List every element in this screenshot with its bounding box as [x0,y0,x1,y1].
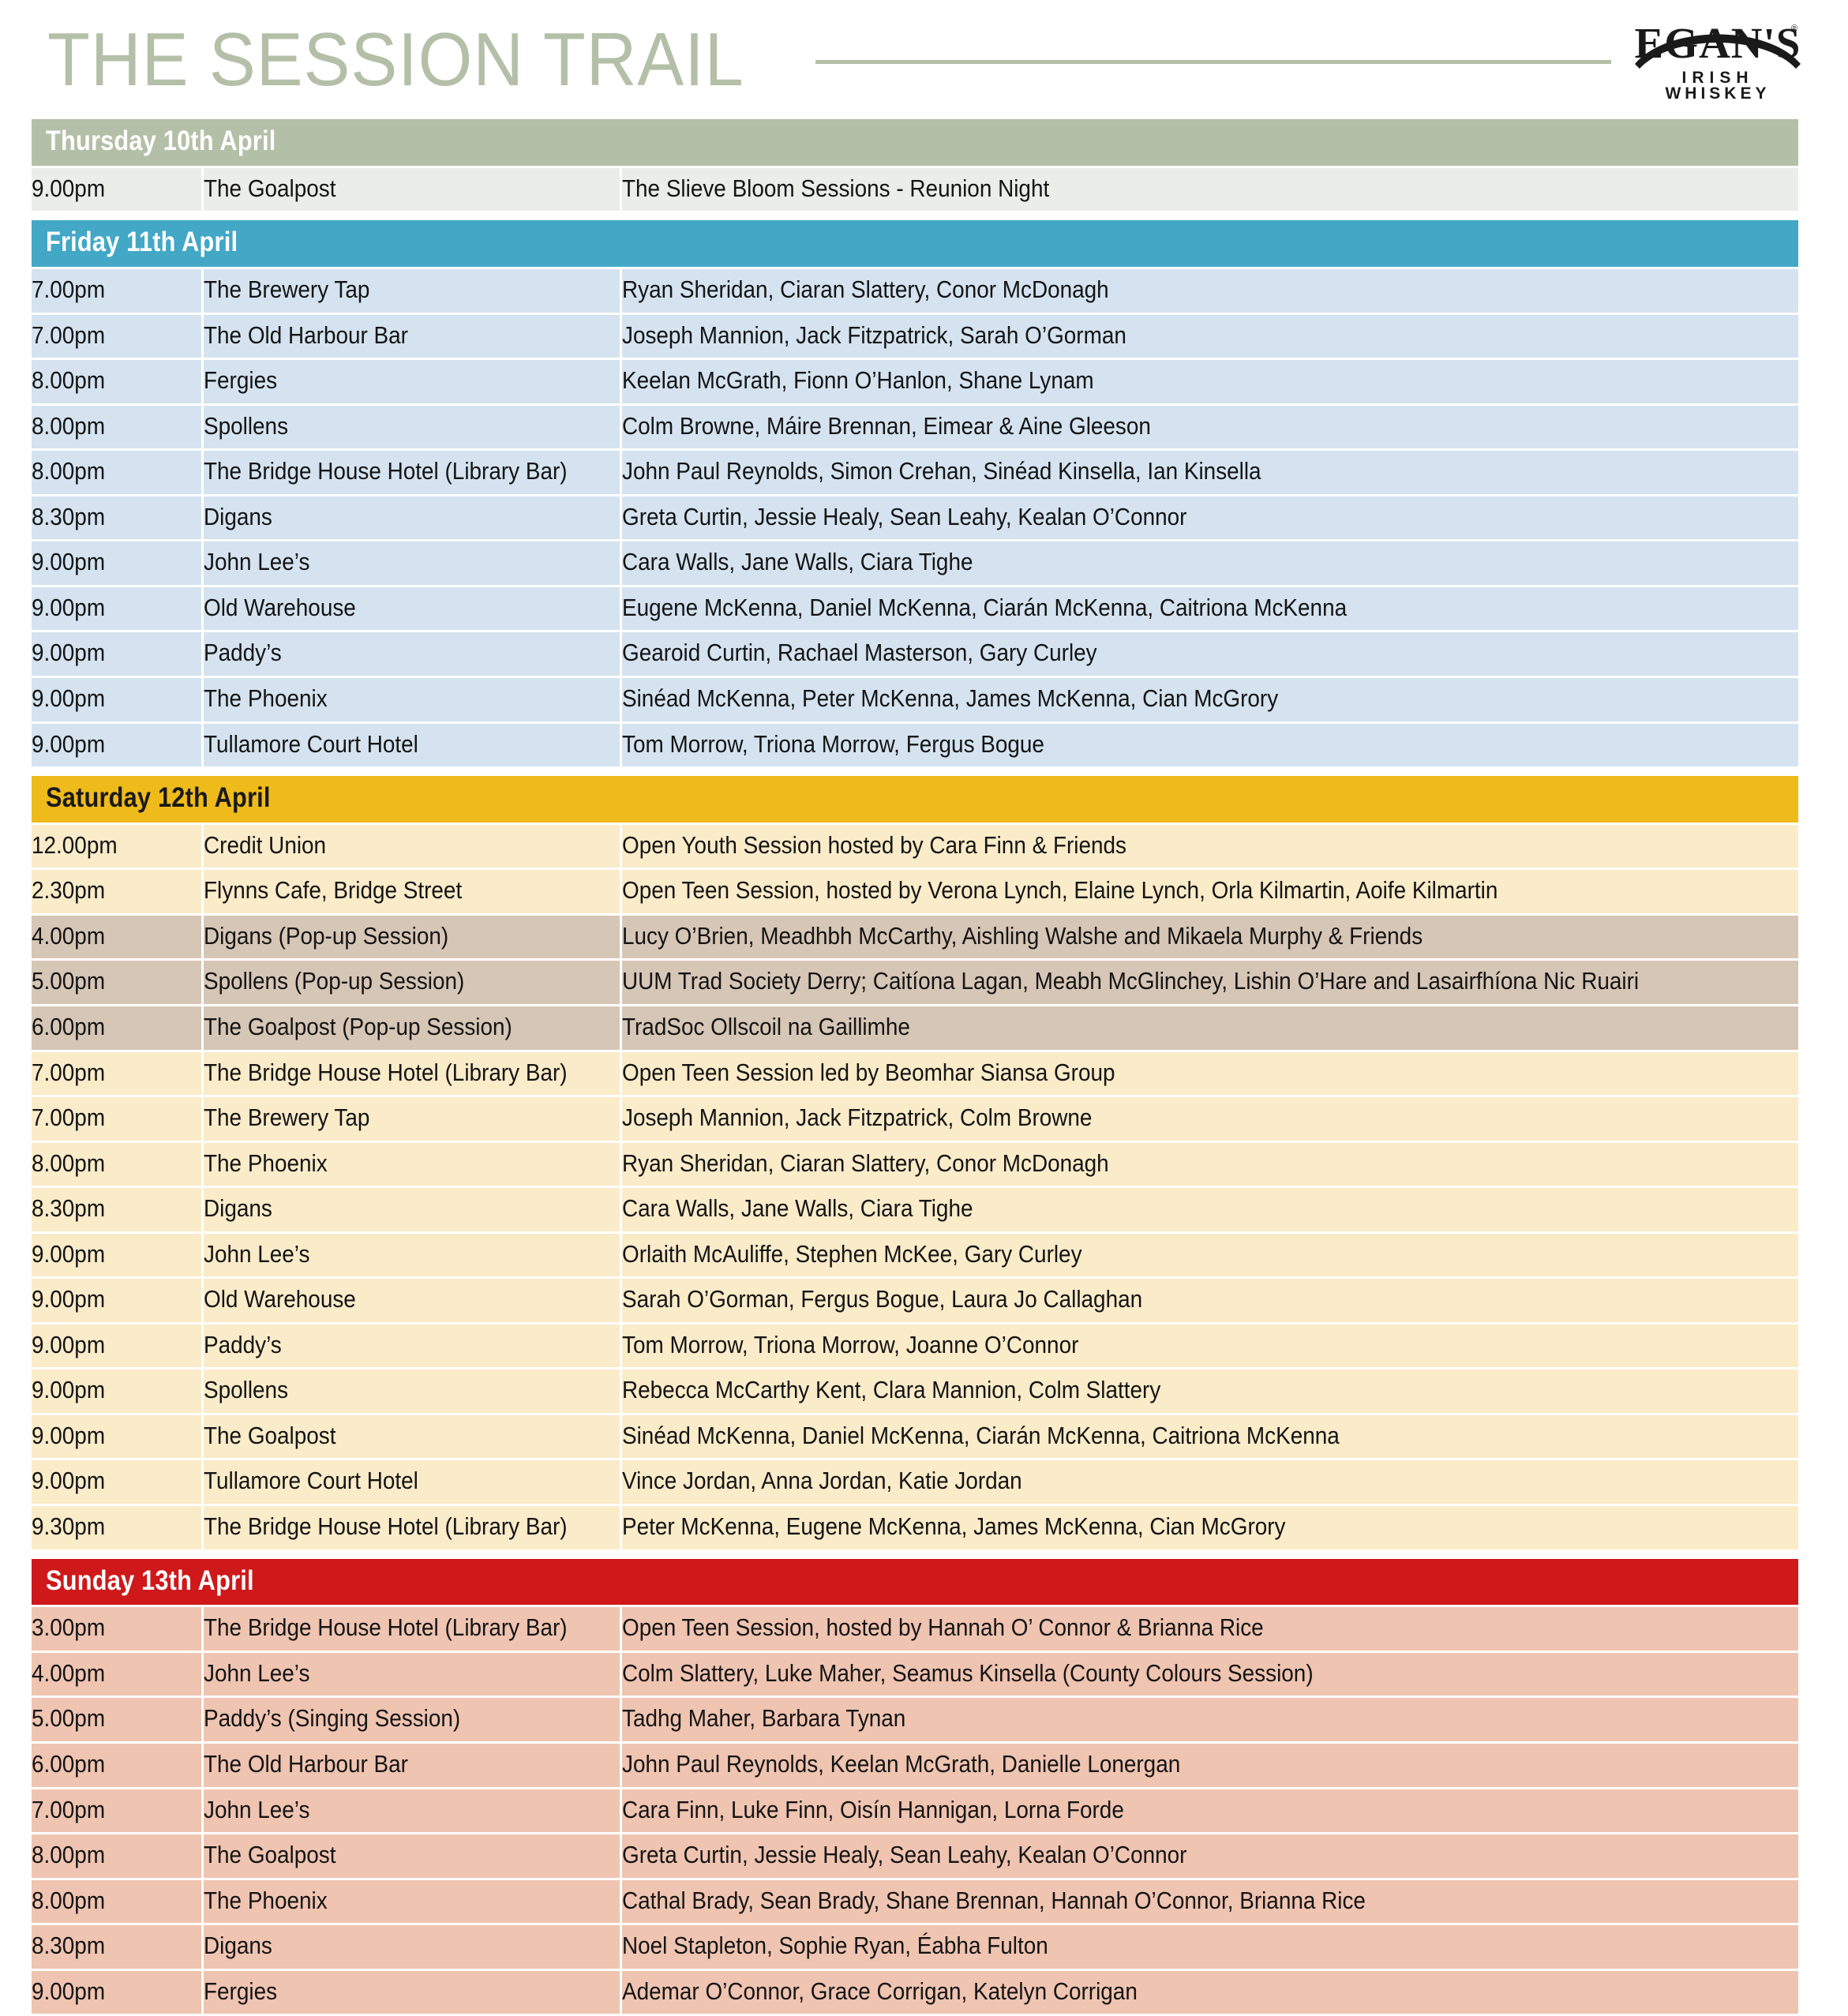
masthead: THE SESSION TRAIL EGAN'S ® IRISH WHISKEY [0,0,1848,117]
session-acts: Gearoid Curtin, Rachael Masterson, Gary … [622,640,1097,666]
session-time: 8.00pm [32,1888,105,1914]
session-time-cell: 9.00pm [32,1415,201,1459]
session-row[interactable]: 9.00pmPaddy’sTom Morrow, Triona Morrow, … [32,1325,1798,1368]
session-venue: The Phoenix [204,1151,328,1177]
session-time-cell: 9.30pm [32,1506,201,1549]
session-row[interactable]: 9.00pmOld WarehouseEugene McKenna, Danie… [32,587,1798,631]
session-time-cell: 4.00pm [32,916,201,959]
session-venue: The Phoenix [204,1888,328,1914]
session-acts: Joseph Mannion, Jack Fitzpatrick, Colm B… [622,1105,1092,1131]
session-time-cell: 7.00pm [32,1052,201,1096]
session-time-cell: 3.00pm [32,1607,201,1651]
session-venue-cell: John Lee’s [201,1653,620,1696]
session-venue: The Bridge House Hotel (Library Bar) [204,459,568,485]
session-venue: The Goalpost [204,1842,335,1868]
session-acts: Open Teen Session, hosted by Verona Lync… [622,878,1498,904]
session-venue-cell: The Bridge House Hotel (Library Bar) [201,1052,620,1096]
session-time: 8.00pm [32,368,105,394]
session-venue: Credit Union [204,833,326,859]
session-acts: Greta Curtin, Jessie Healy, Sean Leahy, … [622,1842,1186,1868]
session-venue: John Lee’s [204,1661,309,1687]
session-acts-cell: Greta Curtin, Jessie Healy, Sean Leahy, … [620,497,1798,540]
session-time-cell: 9.00pm [32,1234,201,1277]
session-venue: The Brewery Tap [204,1105,369,1131]
session-acts: Sarah O’Gorman, Fergus Bogue, Laura Jo C… [622,1287,1142,1313]
session-row[interactable]: 6.00pmThe Goalpost (Pop-up Session)TradS… [32,1006,1798,1050]
session-venue-cell: Fergies [201,1971,620,2014]
session-row[interactable]: 9.00pmOld WarehouseSarah O’Gorman, Fergu… [32,1279,1798,1322]
session-venue: Spollens (Pop-up Session) [204,969,464,995]
session-venue: Old Warehouse [204,595,356,621]
session-time: 12.00pm [32,833,118,859]
session-venue: Spollens [204,414,288,440]
session-acts-cell: John Paul Reynolds, Keelan McGrath, Dani… [620,1744,1798,1787]
session-row[interactable]: 8.30pmDigansNoel Stapleton, Sophie Ryan,… [32,1925,1798,1969]
session-venue-cell: The Bridge House Hotel (Library Bar) [201,1506,620,1549]
session-acts-cell: Noel Stapleton, Sophie Ryan, Éabha Fulto… [620,1925,1798,1969]
session-row[interactable]: 7.00pmJohn Lee’sCara Finn, Luke Finn, Oi… [32,1789,1798,1833]
session-time: 7.00pm [32,1105,105,1131]
session-time: 8.00pm [32,459,105,485]
session-acts: Cara Walls, Jane Walls, Ciara Tighe [622,549,973,575]
session-time: 8.30pm [32,1196,105,1222]
session-acts-cell: Rebecca McCarthy Kent, Clara Mannion, Co… [620,1370,1798,1413]
session-acts: Keelan McGrath, Fionn O’Hanlon, Shane Ly… [622,368,1094,394]
session-venue: Old Warehouse [204,1287,356,1313]
table-spacer [32,213,1798,218]
day-label: Saturday 12th April [46,784,271,813]
session-acts-cell: Keelan McGrath, Fionn O’Hanlon, Shane Ly… [620,360,1798,403]
session-venue: John Lee’s [204,1242,309,1268]
session-time-cell: 5.00pm [32,1698,201,1741]
session-venue-cell: Digans [201,497,620,540]
day-label: Thursday 10th April [46,127,276,156]
svg-text:®: ® [1791,24,1797,33]
session-time: 9.00pm [32,176,105,202]
session-acts-cell: Colm Browne, Máire Brennan, Eimear & Ain… [620,406,1798,449]
session-time: 9.00pm [32,1242,105,1268]
session-time: 5.00pm [32,1706,105,1732]
session-time: 9.30pm [32,1514,105,1540]
session-acts-cell: Vince Jordan, Anna Jordan, Katie Jordan [620,1460,1798,1504]
session-time: 9.00pm [32,1423,105,1449]
session-row[interactable]: 2.30pmFlynns Cafe, Bridge StreetOpen Tee… [32,870,1798,913]
session-venue-cell: The Bridge House Hotel (Library Bar) [201,1607,620,1651]
session-acts: Vince Jordan, Anna Jordan, Katie Jordan [622,1468,1022,1494]
session-row[interactable]: 4.00pmJohn Lee’sColm Slattery, Luke Mahe… [32,1653,1798,1696]
session-venue-cell: Paddy’s [201,632,620,676]
day-header-sunday: Sunday 13th April [32,1559,1798,1606]
session-acts-cell: Ryan Sheridan, Ciaran Slattery, Conor Mc… [620,269,1798,313]
session-venue-cell: Digans [201,1925,620,1969]
session-venue: Tullamore Court Hotel [204,1468,418,1494]
session-row[interactable]: 8.00pmSpollensColm Browne, Máire Brennan… [32,406,1798,449]
session-venue: The Goalpost [204,176,335,202]
session-venue: Flynns Cafe, Bridge Street [204,878,462,904]
session-venue: The Goalpost (Pop-up Session) [204,1014,512,1040]
session-venue-cell: Paddy’s [201,1325,620,1368]
session-acts: Open Teen Session led by Beomhar Siansa … [622,1060,1115,1086]
day-header-cell: Sunday 13th April [32,1559,1798,1606]
session-venue-cell: The Old Harbour Bar [201,1744,620,1787]
session-row[interactable]: 9.00pmJohn Lee’sCara Walls, Jane Walls, … [32,541,1798,585]
session-venue-cell: Credit Union [201,825,620,868]
session-row[interactable]: 9.30pmThe Bridge House Hotel (Library Ba… [32,1506,1798,1549]
session-venue-cell: John Lee’s [201,1789,620,1833]
day-header-thursday: Thursday 10th April [32,119,1798,166]
session-venue-cell: Flynns Cafe, Bridge Street [201,870,620,913]
egans-logo-icon: EGAN'S ® IRISH WHISKEY [1627,12,1809,100]
session-acts: Orlaith McAuliffe, Stephen McKee, Gary C… [622,1242,1082,1268]
session-acts-cell: Sinéad McKenna, Peter McKenna, James McK… [620,678,1798,721]
session-acts-cell: Cara Finn, Luke Finn, Oisín Hannigan, Lo… [620,1789,1798,1833]
session-row[interactable]: 9.00pmThe GoalpostThe Slieve Bloom Sessi… [32,168,1798,212]
svg-text:EGAN'S: EGAN'S [1635,19,1801,67]
session-time: 4.00pm [32,924,105,950]
svg-text:WHISKEY: WHISKEY [1665,84,1770,100]
session-time-cell: 9.00pm [32,541,201,585]
session-acts: Cathal Brady, Sean Brady, Shane Brennan,… [622,1888,1366,1914]
session-time: 7.00pm [32,1060,105,1086]
session-time-cell: 8.00pm [32,406,201,449]
session-time: 8.30pm [32,1933,105,1959]
session-venue-cell: The Old Harbour Bar [201,315,620,358]
session-row[interactable]: 8.00pmThe PhoenixRyan Sheridan, Ciaran S… [32,1143,1798,1186]
session-row[interactable]: 9.00pmThe GoalpostSinéad McKenna, Daniel… [32,1415,1798,1459]
session-row[interactable]: 9.00pmJohn Lee’sOrlaith McAuliffe, Steph… [32,1234,1798,1277]
session-acts: Colm Slattery, Luke Maher, Seamus Kinsel… [622,1661,1314,1687]
session-time-cell: 9.00pm [32,678,201,721]
session-time: 8.00pm [32,1842,105,1868]
session-row[interactable]: 4.00pmDigans (Pop-up Session)Lucy O’Brie… [32,916,1798,959]
session-time-cell: 9.00pm [32,168,201,212]
session-acts: UUM Trad Society Derry; Caitíona Lagan, … [622,969,1639,995]
session-row[interactable]: 7.00pmThe Brewery TapRyan Sheridan, Ciar… [32,269,1798,313]
session-row[interactable]: 9.00pmTullamore Court HotelTom Morrow, T… [32,724,1798,767]
session-acts-cell: Open Teen Session, hosted by Hannah O’ C… [620,1607,1798,1651]
session-acts: Tom Morrow, Triona Morrow, Fergus Bogue [622,732,1044,758]
session-time: 2.30pm [32,878,105,904]
session-time: 9.00pm [32,1332,105,1358]
day-label: Friday 11th April [46,228,238,257]
session-time-cell: 8.00pm [32,1143,201,1186]
session-acts: Rebecca McCarthy Kent, Clara Mannion, Co… [622,1377,1160,1403]
session-row[interactable]: 8.00pmThe GoalpostGreta Curtin, Jessie H… [32,1834,1798,1878]
session-time: 4.00pm [32,1661,105,1687]
session-row[interactable]: 7.00pmThe Bridge House Hotel (Library Ba… [32,1052,1798,1096]
session-time-cell: 12.00pm [32,825,201,868]
session-venue: Paddy’s (Singing Session) [204,1706,460,1732]
session-time: 8.30pm [32,504,105,530]
session-schedule-table: Thursday 10th April9.00pmThe GoalpostThe… [32,117,1798,2016]
session-venue-cell: Tullamore Court Hotel [201,1460,620,1504]
session-time-cell: 8.00pm [32,1834,201,1878]
session-row[interactable]: 7.00pmThe Brewery TapJoseph Mannion, Jac… [32,1097,1798,1141]
session-row[interactable]: 12.00pmCredit UnionOpen Youth Session ho… [32,825,1798,868]
session-time: 7.00pm [32,1797,105,1823]
session-acts: The Slieve Bloom Sessions - Reunion Nigh… [622,176,1049,202]
session-venue-cell: Digans [201,1188,620,1231]
table-spacer-cell [32,213,1798,218]
session-venue-cell: The Phoenix [201,1143,620,1186]
session-time-cell: 9.00pm [32,1460,201,1504]
session-acts: John Paul Reynolds, Simon Crehan, Sinéad… [622,459,1261,485]
session-venue-cell: The Bridge House Hotel (Library Bar) [201,451,620,494]
session-venue-cell: Spollens [201,406,620,449]
session-time: 7.00pm [32,323,105,349]
session-acts-cell: Joseph Mannion, Jack Fitzpatrick, Colm B… [620,1097,1798,1141]
session-acts: Eugene McKenna, Daniel McKenna, Ciarán M… [622,595,1347,621]
session-acts: Cara Walls, Jane Walls, Ciara Tighe [622,1196,973,1222]
session-time: 9.00pm [32,1377,105,1403]
session-venue-cell: Paddy’s (Singing Session) [201,1698,620,1741]
session-venue: The Goalpost [204,1423,335,1449]
session-acts: Ryan Sheridan, Ciaran Slattery, Conor Mc… [622,277,1109,303]
session-venue-cell: Spollens (Pop-up Session) [201,961,620,1004]
session-row[interactable]: 8.30pmDigansCara Walls, Jane Walls, Ciar… [32,1188,1798,1231]
session-time: 9.00pm [32,1468,105,1494]
session-venue: The Old Harbour Bar [204,1752,408,1778]
session-time-cell: 2.30pm [32,870,201,913]
session-acts: Open Teen Session, hosted by Hannah O’ C… [622,1615,1264,1641]
session-time-cell: 7.00pm [32,269,201,313]
session-time-cell: 9.00pm [32,587,201,631]
session-venue-cell: The Goalpost [201,168,620,212]
session-venue: Paddy’s [204,640,282,666]
session-time: 9.00pm [32,595,105,621]
session-time: 6.00pm [32,1014,105,1040]
session-row[interactable]: 9.00pmThe PhoenixSinéad McKenna, Peter M… [32,678,1798,721]
session-time: 8.00pm [32,414,105,440]
session-venue: Spollens [204,1377,288,1403]
title-block: THE SESSION TRAIL [47,19,1611,98]
day-header-friday: Friday 11th April [32,220,1798,267]
session-time-cell: 9.00pm [32,724,201,767]
session-acts: Lucy O’Brien, Meadhbh McCarthy, Aishling… [622,924,1423,950]
session-venue-cell: The Phoenix [201,678,620,721]
session-venue-cell: The Phoenix [201,1880,620,1924]
session-row[interactable]: 3.00pmThe Bridge House Hotel (Library Ba… [32,1607,1798,1651]
session-time: 9.00pm [32,640,105,666]
session-acts-cell: UUM Trad Society Derry; Caitíona Lagan, … [620,961,1798,1004]
session-time-cell: 9.00pm [32,1325,201,1368]
egans-irish-whiskey-logo: EGAN'S ® IRISH WHISKEY [1611,12,1809,105]
session-time: 9.00pm [32,732,105,758]
session-acts-cell: Orlaith McAuliffe, Stephen McKee, Gary C… [620,1234,1798,1277]
session-acts-cell: Cara Walls, Jane Walls, Ciara Tighe [620,1188,1798,1231]
session-time: 6.00pm [32,1752,105,1778]
session-time-cell: 8.00pm [32,1880,201,1924]
session-venue: The Old Harbour Bar [204,323,408,349]
table-spacer-cell [32,1552,1798,1557]
session-acts-cell: Open Youth Session hosted by Cara Finn &… [620,825,1798,868]
session-venue-cell: Tullamore Court Hotel [201,724,620,767]
session-time: 9.00pm [32,1979,105,2005]
session-acts-cell: Sinéad McKenna, Daniel McKenna, Ciarán M… [620,1415,1798,1459]
session-acts: Tadhg Maher, Barbara Tynan [622,1706,905,1732]
session-row[interactable]: 7.00pmThe Old Harbour BarJoseph Mannion,… [32,315,1798,358]
session-acts-cell: The Slieve Bloom Sessions - Reunion Nigh… [620,168,1798,212]
session-acts-cell: Greta Curtin, Jessie Healy, Sean Leahy, … [620,1834,1798,1878]
session-time-cell: 6.00pm [32,1744,201,1787]
day-header-cell: Thursday 10th April [32,119,1798,166]
session-time: 9.00pm [32,549,105,575]
session-venue-cell: The Brewery Tap [201,1097,620,1141]
session-acts: Greta Curtin, Jessie Healy, Sean Leahy, … [622,504,1186,530]
session-venue-cell: The Goalpost [201,1415,620,1459]
session-acts: John Paul Reynolds, Keelan McGrath, Dani… [622,1752,1180,1778]
session-venue: The Bridge House Hotel (Library Bar) [204,1615,568,1641]
session-acts-cell: Open Teen Session, hosted by Verona Lync… [620,870,1798,913]
session-acts: Joseph Mannion, Jack Fitzpatrick, Sarah … [622,323,1126,349]
session-time-cell: 8.30pm [32,497,201,540]
session-acts: Peter McKenna, Eugene McKenna, James McK… [622,1514,1285,1540]
table-spacer-cell [32,769,1798,774]
session-venue: The Bridge House Hotel (Library Bar) [204,1514,568,1540]
session-time-cell: 9.00pm [32,1971,201,2014]
day-header-saturday: Saturday 12th April [32,776,1798,823]
session-time-cell: 8.00pm [32,451,201,494]
session-time: 3.00pm [32,1615,105,1641]
table-spacer [32,1552,1798,1557]
session-row[interactable]: 9.00pmPaddy’sGearoid Curtin, Rachael Mas… [32,632,1798,676]
session-row[interactable]: 5.00pmPaddy’s (Singing Session)Tadhg Mah… [32,1698,1798,1741]
day-label: Sunday 13th April [46,1567,254,1596]
session-time-cell: 8.30pm [32,1188,201,1231]
session-time: 8.00pm [32,1151,105,1177]
session-venue-cell: The Brewery Tap [201,269,620,313]
session-acts: TradSoc Ollscoil na Gaillimhe [622,1014,910,1040]
session-row[interactable]: 9.00pmFergiesAdemar O’Connor, Grace Corr… [32,1971,1798,2014]
session-acts: Tom Morrow, Triona Morrow, Joanne O’Conn… [622,1332,1078,1358]
session-venue-cell: The Goalpost (Pop-up Session) [201,1006,620,1050]
session-time-cell: 9.00pm [32,632,201,676]
session-acts-cell: Tadhg Maher, Barbara Tynan [620,1698,1798,1741]
session-venue: Digans [204,504,272,530]
session-venue: Tullamore Court Hotel [204,732,418,758]
session-acts-cell: Tom Morrow, Triona Morrow, Joanne O’Conn… [620,1325,1798,1368]
session-time: 9.00pm [32,1287,105,1313]
session-acts: Ademar O’Connor, Grace Corrigan, Katelyn… [622,1979,1138,2005]
session-row[interactable]: 6.00pmThe Old Harbour BarJohn Paul Reyno… [32,1744,1798,1787]
session-venue: Fergies [204,368,277,394]
session-row[interactable]: 5.00pmSpollens (Pop-up Session)UUM Trad … [32,961,1798,1004]
session-acts-cell: Tom Morrow, Triona Morrow, Fergus Bogue [620,724,1798,767]
session-venue-cell: Fergies [201,360,620,403]
session-venue: Paddy’s [204,1332,282,1358]
session-acts-cell: Gearoid Curtin, Rachael Masterson, Gary … [620,632,1798,676]
session-venue: Digans [204,1933,272,1959]
session-acts-cell: Peter McKenna, Eugene McKenna, James McK… [620,1506,1798,1549]
session-acts: Cara Finn, Luke Finn, Oisín Hannigan, Lo… [622,1797,1124,1823]
title-rule-divider [815,60,1611,64]
session-row[interactable]: 8.00pmThe PhoenixCathal Brady, Sean Brad… [32,1880,1798,1924]
session-venue-cell: Digans (Pop-up Session) [201,916,620,959]
session-time: 9.00pm [32,686,105,712]
session-acts-cell: Sarah O’Gorman, Fergus Bogue, Laura Jo C… [620,1279,1798,1322]
session-acts-cell: Cathal Brady, Sean Brady, Shane Brennan,… [620,1880,1798,1924]
session-acts-cell: Lucy O’Brien, Meadhbh McCarthy, Aishling… [620,916,1798,959]
session-venue: Digans (Pop-up Session) [204,924,448,950]
session-time-cell: 8.00pm [32,360,201,403]
session-row[interactable]: 8.00pmThe Bridge House Hotel (Library Ba… [32,451,1798,494]
session-acts-cell: Joseph Mannion, Jack Fitzpatrick, Sarah … [620,315,1798,358]
session-time-cell: 9.00pm [32,1279,201,1322]
session-acts-cell: Open Teen Session led by Beomhar Siansa … [620,1052,1798,1096]
session-acts-cell: John Paul Reynolds, Simon Crehan, Sinéad… [620,451,1798,494]
session-time-cell: 6.00pm [32,1006,201,1050]
session-row[interactable]: 8.30pmDigansGreta Curtin, Jessie Healy, … [32,497,1798,540]
session-time-cell: 4.00pm [32,1653,201,1696]
session-time-cell: 7.00pm [32,1789,201,1833]
session-venue: The Brewery Tap [204,277,369,303]
session-venue: John Lee’s [204,1797,309,1823]
session-acts-cell: TradSoc Ollscoil na Gaillimhe [620,1006,1798,1050]
session-venue: The Phoenix [204,686,328,712]
session-acts: Sinéad McKenna, Daniel McKenna, Ciarán M… [622,1423,1340,1449]
session-venue: Fergies [204,1979,277,2005]
session-time-cell: 9.00pm [32,1370,201,1413]
session-venue-cell: The Goalpost [201,1834,620,1878]
session-acts: Open Youth Session hosted by Cara Finn &… [622,833,1126,859]
session-venue-cell: Spollens [201,1370,620,1413]
session-time-cell: 8.30pm [32,1925,201,1969]
session-venue: The Bridge House Hotel (Library Bar) [204,1060,568,1086]
session-row[interactable]: 8.00pmFergiesKeelan McGrath, Fionn O’Han… [32,360,1798,403]
session-row[interactable]: 9.00pmTullamore Court HotelVince Jordan,… [32,1460,1798,1504]
session-time-cell: 7.00pm [32,315,201,358]
session-time-cell: 5.00pm [32,961,201,1004]
session-venue: Digans [204,1196,272,1222]
session-acts-cell: Ademar O’Connor, Grace Corrigan, Katelyn… [620,1971,1798,2014]
session-venue-cell: Old Warehouse [201,1279,620,1322]
session-time: 7.00pm [32,277,105,303]
session-venue: John Lee’s [204,549,309,575]
session-row[interactable]: 9.00pmSpollensRebecca McCarthy Kent, Cla… [32,1370,1798,1413]
page-title: THE SESSION TRAIL [47,19,744,98]
session-time-cell: 7.00pm [32,1097,201,1141]
session-venue-cell: Old Warehouse [201,587,620,631]
session-acts-cell: Eugene McKenna, Daniel McKenna, Ciarán M… [620,587,1798,631]
session-venue-cell: John Lee’s [201,1234,620,1277]
session-time: 5.00pm [32,969,105,995]
day-header-cell: Friday 11th April [32,220,1798,267]
session-venue-cell: John Lee’s [201,541,620,585]
session-acts: Sinéad McKenna, Peter McKenna, James McK… [622,686,1278,712]
session-acts-cell: Colm Slattery, Luke Maher, Seamus Kinsel… [620,1653,1798,1696]
table-spacer [32,769,1798,774]
day-header-cell: Saturday 12th April [32,776,1798,823]
session-acts: Colm Browne, Máire Brennan, Eimear & Ain… [622,414,1151,440]
session-acts-cell: Ryan Sheridan, Ciaran Slattery, Conor Mc… [620,1143,1798,1186]
session-acts-cell: Cara Walls, Jane Walls, Ciara Tighe [620,541,1798,585]
session-trail-poster: THE SESSION TRAIL EGAN'S ® IRISH WHISKEY… [0,0,1848,1919]
session-acts: Noel Stapleton, Sophie Ryan, Éabha Fulto… [622,1933,1048,1959]
session-acts: Ryan Sheridan, Ciaran Slattery, Conor Mc… [622,1151,1109,1177]
